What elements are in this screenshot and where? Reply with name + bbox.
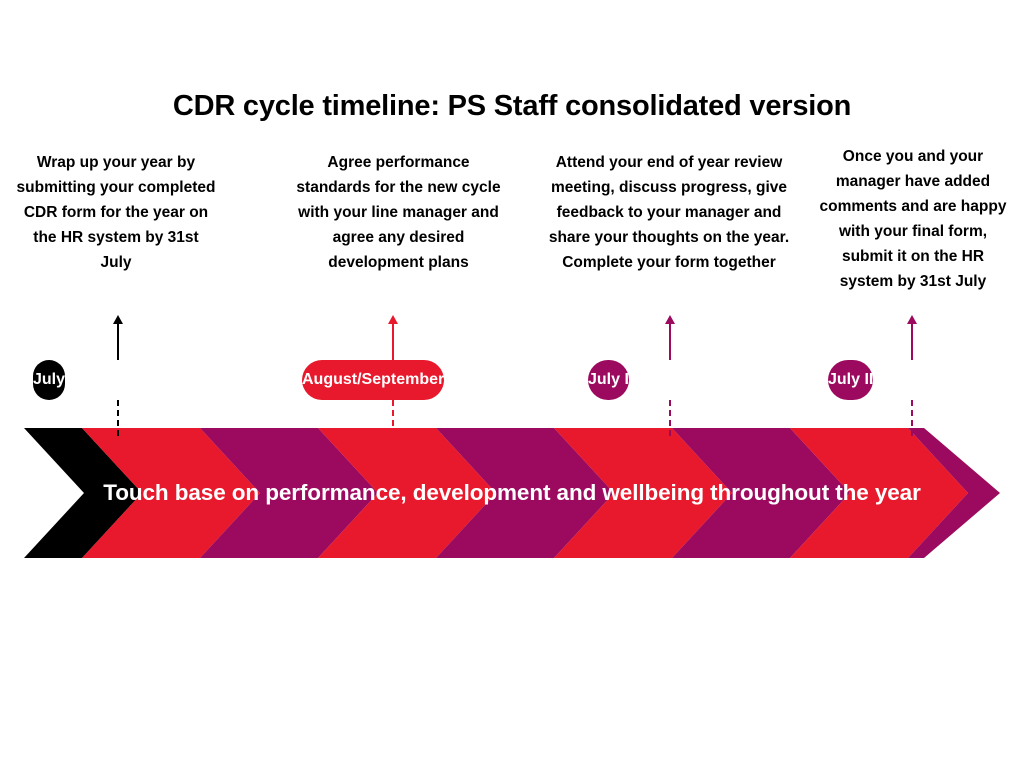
arrow-stem [392, 324, 394, 360]
connector-dashed-down-icon [392, 400, 394, 436]
connector-dashed-down-icon [911, 400, 913, 436]
arrow-head-icon [907, 315, 917, 324]
milestone-pill-august-september[interactable]: August/September [302, 360, 444, 400]
milestone-description-4: Once you and your manager have added com… [818, 144, 1008, 294]
descriptions-row: Wrap up your year by submitting your com… [0, 150, 1024, 325]
milestone-pill-july-i[interactable]: July I [588, 360, 629, 400]
milestone-2[interactable]: August/September [302, 360, 484, 400]
connector-arrow-up-icon [392, 322, 394, 360]
milestone-1[interactable]: July [33, 360, 199, 400]
chevron-band-graphic [24, 428, 1000, 558]
arrow-head-icon [665, 315, 675, 324]
connector-arrow-up-icon [911, 322, 913, 360]
milestone-description-1: Wrap up your year by submitting your com… [16, 150, 216, 275]
milestone-description-3: Attend your end of year review meeting, … [540, 150, 798, 275]
arrow-stem [911, 324, 913, 360]
connector-arrow-up-icon [669, 322, 671, 360]
arrow-head-icon [113, 315, 123, 324]
milestone-pill-july[interactable]: July [33, 360, 65, 400]
milestone-pill-july-ii[interactable]: July II [828, 360, 873, 400]
page-title: CDR cycle timeline: PS Staff consolidate… [0, 90, 1024, 123]
milestone-3[interactable]: July I [588, 360, 751, 400]
connector-dashed-down-icon [669, 400, 671, 436]
connector-dashed-down-icon [117, 400, 119, 436]
milestone-4[interactable]: July II [828, 360, 994, 400]
milestone-description-2: Agree performance standards for the new … [296, 150, 501, 275]
arrow-stem [117, 324, 119, 360]
arrow-stem [669, 324, 671, 360]
timeline-band: Touch base on performance, development a… [24, 428, 1000, 558]
connector-arrow-up-icon [117, 322, 119, 360]
arrow-head-icon [388, 315, 398, 324]
